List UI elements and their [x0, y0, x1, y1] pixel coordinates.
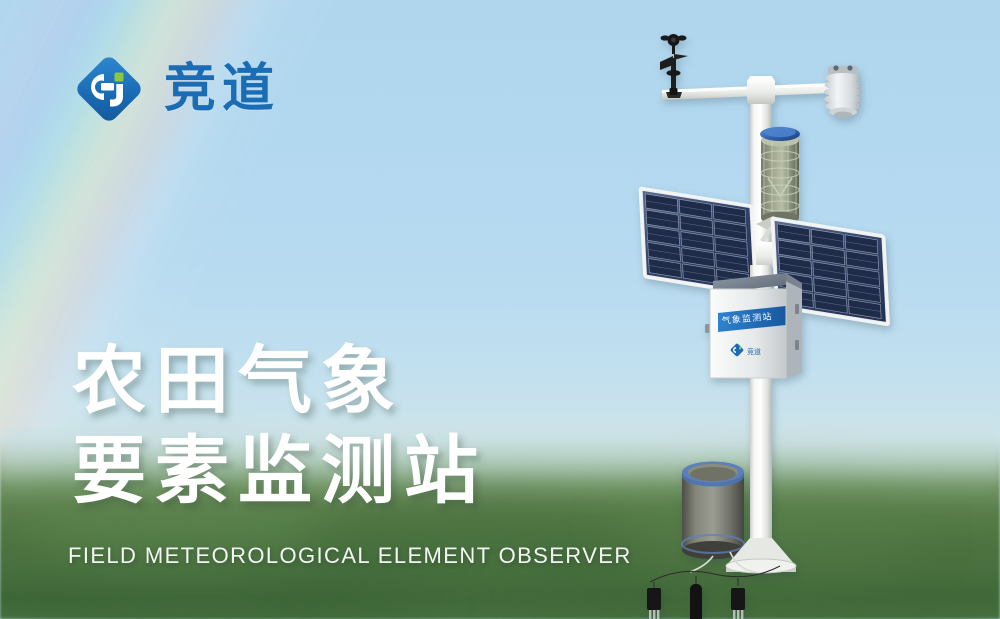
temperature-humidity-radiation-shield [824, 65, 862, 118]
soil-moisture-probe [690, 584, 702, 619]
soil-moisture-probe [731, 588, 745, 619]
control-box-hinge [795, 304, 799, 314]
headline-line-1: 农田气象 [72, 336, 487, 426]
headline-block: 农田气象 要素监测站 [72, 336, 487, 517]
brand-name: 竞道 [164, 63, 280, 115]
control-box-latch [705, 324, 710, 333]
wind-speed-direction-sensor [660, 34, 688, 98]
headline-line-2: 要素监测站 [72, 426, 487, 516]
headline-subtitle: FIELD METEOROLOGICAL ELEMENT OBSERVER [68, 543, 632, 569]
pole-mounted-cylinder-sensor [756, 127, 800, 230]
rain-gauge-bucket [682, 462, 744, 560]
control-box-hinge [795, 340, 799, 350]
data-logger-control-box: 气象监测站 竞道 [705, 273, 802, 378]
soil-moisture-probe [647, 588, 661, 619]
jingdao-diamond-logo-icon [70, 50, 148, 128]
svg-text:竞道: 竞道 [747, 347, 761, 356]
brand-logo[interactable]: 竞道 [70, 50, 280, 128]
banner-canvas: 竞道 农田气象 要素监测站 FIELD METEOROLOGICAL ELEME… [0, 0, 1000, 619]
field-meteorological-station: 气象监测站 竞道 [610, 10, 990, 619]
